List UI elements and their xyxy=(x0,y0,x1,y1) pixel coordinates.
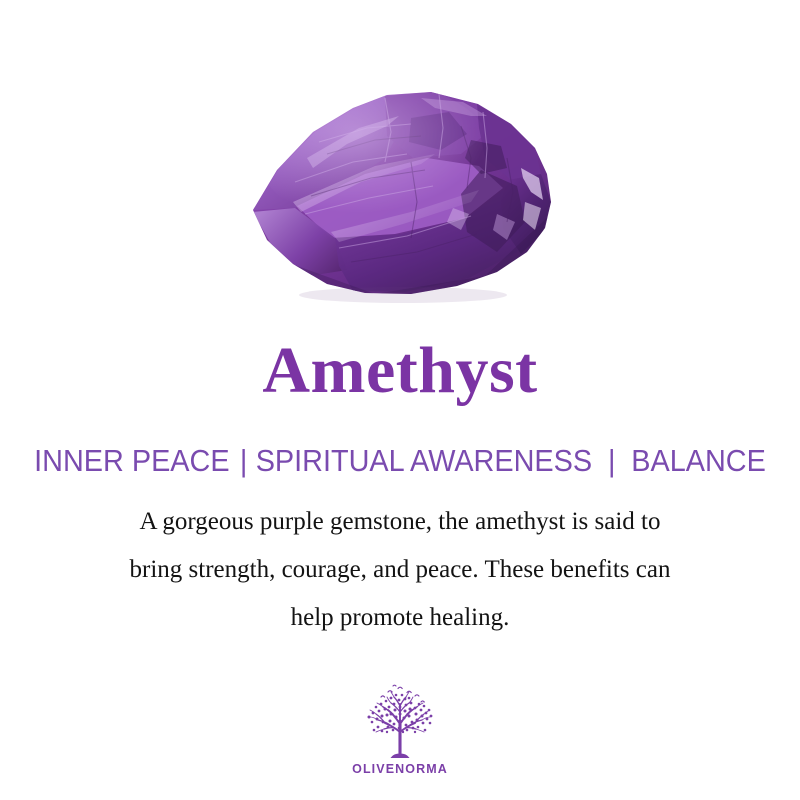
keyword-inner-peace: INNER PEACE xyxy=(34,442,229,480)
description-paragraph: A gorgeous purple gemstone, the amethyst… xyxy=(50,498,750,642)
amethyst-crystal-illustration xyxy=(235,62,565,312)
stone-facets xyxy=(235,82,551,312)
keyword-separator: | xyxy=(230,442,256,480)
brand-name: OLIVENORMA xyxy=(0,762,800,776)
keyword-balance: BALANCE xyxy=(631,442,766,480)
description-line: help promote healing. xyxy=(50,594,750,642)
stone-shadow xyxy=(299,287,507,303)
keyword-row: INNER PEACE|SPIRITUAL AWARENESS|BALANCE xyxy=(28,440,772,480)
description-line: A gorgeous purple gemstone, the amethyst… xyxy=(50,498,750,546)
keyword-separator: | xyxy=(592,442,631,480)
amethyst-info-card: Amethyst INNER PEACE|SPIRITUAL AWARENESS… xyxy=(0,0,800,800)
description-line: bring strength, courage, and peace. Thes… xyxy=(50,546,750,594)
brand-logo: OLIVENORMA xyxy=(0,684,800,776)
tree-of-life-icon xyxy=(357,684,443,760)
amethyst-stone-image xyxy=(0,62,800,312)
keyword-spiritual-awareness: SPIRITUAL AWARENESS xyxy=(256,442,592,480)
page-title: Amethyst xyxy=(0,335,800,407)
